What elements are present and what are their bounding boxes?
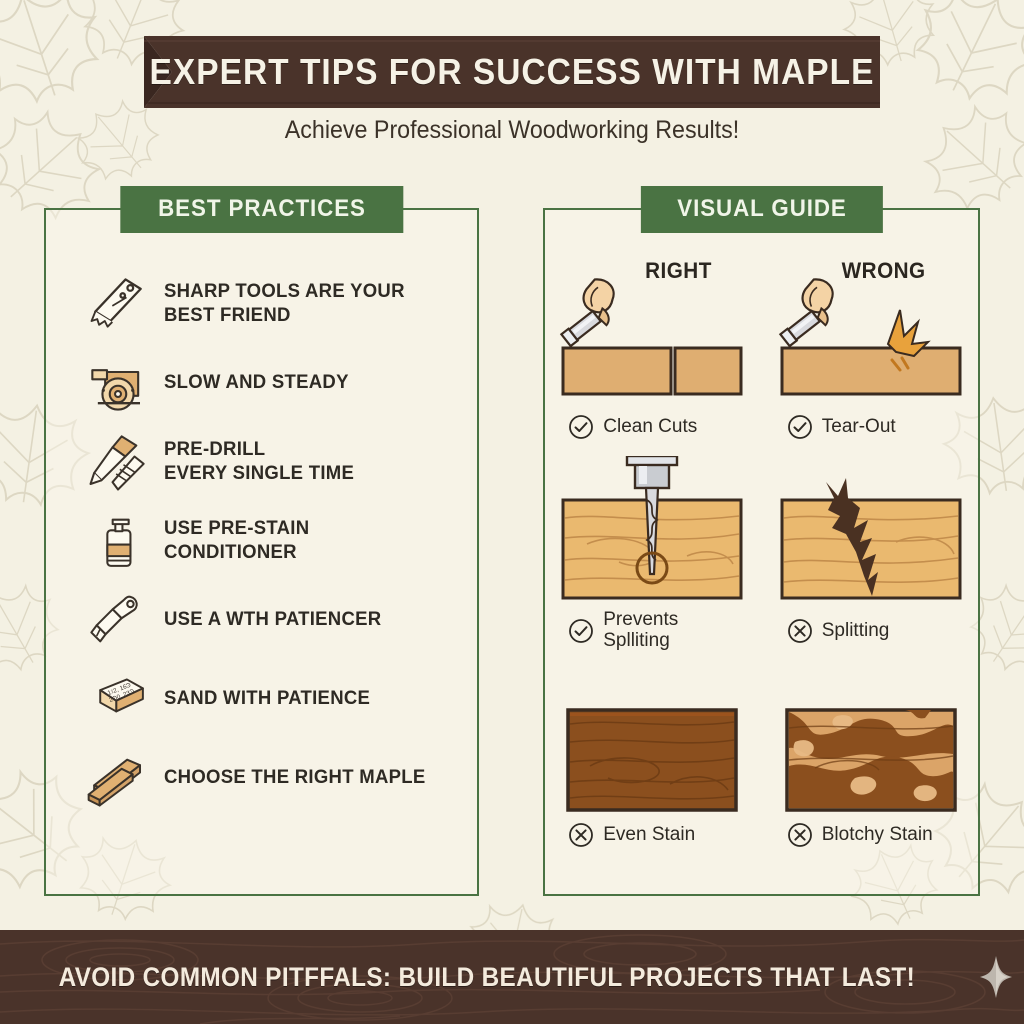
chisel-clean-cut-art [557, 252, 747, 404]
tip-label-line1: SHARP TOOLS ARE YOUR [164, 280, 405, 304]
visual-guide-heading: VISUAL GUIDE [640, 186, 882, 233]
title-banner: EXPERT TIPS FOR SUCCESS WITH MAPLE [0, 36, 1024, 108]
chisel-tearout-art [776, 252, 966, 404]
caption-line1: Prevents [603, 610, 678, 631]
tip-label: CHOOSE THE RIGHT MAPLE [164, 766, 426, 790]
best-practices-list: SHARP TOOLS ARE YOURBEST FRIEND SLOW AND… [44, 264, 479, 817]
footer-banner: AVOID COMMON PITFFALS: BUILD BEAUTIFUL P… [0, 930, 1024, 1024]
visual-comparison-cell: Blotchy Stain [762, 660, 981, 858]
check-circle-icon [568, 618, 594, 644]
caption: PreventsSplliting [568, 608, 736, 654]
visual-comparison-cell: Even Stain [543, 660, 762, 858]
circular-saw-icon [72, 350, 164, 416]
blotchy-stain-art [785, 660, 957, 812]
tip-row: PRE-DRILLEVERY SINGLE TIME [44, 422, 479, 501]
tip-row: SHARP TOOLS ARE YOURBEST FRIEND [44, 264, 479, 343]
visual-comparison-cell: Tear-Out [762, 252, 981, 450]
tip-label: SAND WITH PATIENCE [164, 687, 370, 711]
caption: Splitting [787, 608, 955, 654]
conditioner-bottle-icon [72, 509, 164, 573]
visual-guide-panel: VISUAL GUIDE RIGHT WRONG Clean Cuts [543, 208, 980, 896]
cross-circle-icon [568, 822, 594, 848]
caption-line1: Splitting [822, 621, 890, 642]
sparkle-diamond-icon [979, 955, 1013, 999]
handsaw-icon [72, 270, 164, 338]
tip-label-line1: USE A WTH PATIENCER [164, 608, 381, 632]
check-circle-icon [787, 414, 813, 440]
tip-row: USE PRE-STAINCONDITIONER [44, 501, 479, 580]
tip-label: PRE-DRILLEVERY SINGLE TIME [164, 438, 354, 486]
caption-text: Tear-Out [822, 417, 896, 438]
split-wood-art [776, 456, 966, 608]
visual-comparison-cell: Clean Cuts [543, 252, 762, 450]
footer-message: AVOID COMMON PITFFALS: BUILD BEAUTIFUL P… [59, 962, 916, 993]
cross-circle-icon [787, 822, 813, 848]
caption-text: Blotchy Stain [822, 825, 933, 846]
sanding-block-icon: 1፤2, 16Ͽ2Ͽ0, 23Ͽ [72, 667, 164, 731]
tip-row: CHOOSE THE RIGHT MAPLE [44, 738, 479, 817]
even-stain-art [566, 660, 738, 812]
tip-label-line2: CONDITIONER [164, 541, 309, 565]
caption-text: PreventsSplliting [603, 610, 678, 652]
caption-line1: Tear-Out [822, 417, 896, 438]
tip-label-line1: PRE-DRILL [164, 438, 354, 462]
drill-bit-screw-icon [72, 429, 164, 495]
caption-text: Clean Cuts [603, 417, 697, 438]
tip-row: 1፤2, 16Ͽ2Ͽ0, 23ϿSAND WITH PATIENCE [44, 659, 479, 738]
visual-comparison-cell: PreventsSplliting [543, 456, 762, 654]
caption-line1: Even Stain [603, 825, 695, 846]
page-subtitle: Achieve Professional Woodworking Results… [36, 116, 988, 145]
caption: Blotchy Stain [787, 812, 955, 858]
visual-comparison-grid: Clean Cuts Tear-Out [543, 252, 980, 858]
tip-label: SLOW AND STEADY [164, 371, 349, 395]
best-practices-heading: BEST PRACTICES [120, 186, 403, 233]
tip-row: SLOW AND STEADY [44, 343, 479, 422]
caption-text: Even Stain [603, 825, 695, 846]
best-practices-panel: BEST PRACTICES SHARP TOOLS ARE YOURBEST … [44, 208, 479, 896]
caption-line1: Blotchy Stain [822, 825, 933, 846]
tip-label-line1: CHOOSE THE RIGHT MAPLE [164, 766, 426, 790]
tip-label-line2: BEST FRIEND [164, 304, 405, 328]
caption: Even Stain [568, 812, 736, 858]
caption-text: Splitting [822, 621, 890, 642]
tip-label-line2: EVERY SINGLE TIME [164, 462, 354, 486]
cross-circle-icon [787, 618, 813, 644]
maple-boards-icon [72, 745, 164, 811]
tip-label-line1: SAND WITH PATIENCE [164, 687, 370, 711]
tip-label-line1: USE PRE-STAIN [164, 517, 309, 541]
tip-row: USE A WTH PATIENCER [44, 580, 479, 659]
tip-label-line1: SLOW AND STEADY [164, 371, 349, 395]
caption: Clean Cuts [568, 404, 736, 450]
tip-label: USE A WTH PATIENCER [164, 608, 381, 632]
check-circle-icon [568, 414, 594, 440]
tip-label: SHARP TOOLS ARE YOURBEST FRIEND [164, 280, 405, 328]
caption-line2: Splliting [603, 631, 678, 652]
page-title: EXPERT TIPS FOR SUCCESS WITH MAPLE [36, 36, 988, 108]
caption: Tear-Out [787, 404, 955, 450]
drill-pilot-hole-art [557, 456, 747, 608]
tip-label: USE PRE-STAINCONDITIONER [164, 517, 309, 565]
paintbrush-icon [72, 588, 164, 652]
caption-line1: Clean Cuts [603, 417, 697, 438]
visual-comparison-cell: Splitting [762, 456, 981, 654]
